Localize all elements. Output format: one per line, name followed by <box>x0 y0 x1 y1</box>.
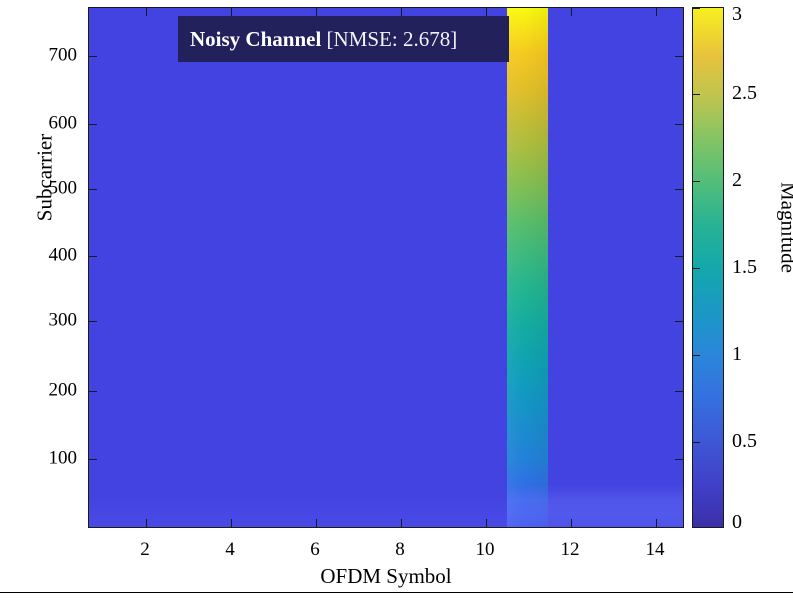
ytick-left-400 <box>89 256 97 257</box>
heatmap-image <box>89 8 683 527</box>
colorbar-label-1p5: 1.5 <box>732 257 757 277</box>
ytick-left-200 <box>89 391 97 392</box>
colorbar-tick-0 <box>693 527 700 528</box>
xtick-label-4: 4 <box>225 540 235 559</box>
ytick-right-300 <box>675 321 683 322</box>
xtick-bottom-2 <box>146 519 147 527</box>
xtick-bottom-14 <box>656 519 657 527</box>
xtick-top-8 <box>401 8 402 16</box>
xtick-top-12 <box>571 8 572 16</box>
xtick-bottom-4 <box>231 519 232 527</box>
colorbar-tick-2 <box>693 181 700 182</box>
ytick-right-700 <box>675 56 683 57</box>
ytick-label-300: 300 <box>25 311 77 330</box>
xtick-label-10: 10 <box>476 540 495 559</box>
ytick-label-700: 700 <box>25 46 77 65</box>
colorbar-label-0p5: 0.5 <box>732 431 757 451</box>
heatmap-bright-column <box>507 8 549 527</box>
xtick-label-2: 2 <box>140 540 150 559</box>
x-axis-label: OFDM Symbol <box>88 564 684 589</box>
xtick-bottom-12 <box>571 519 572 527</box>
plot-title-bold: Noisy Channel <box>190 27 321 51</box>
plot-title-metric: [NMSE: 2.678] <box>321 27 457 51</box>
xtick-label-8: 8 <box>395 540 405 559</box>
xtick-top-10 <box>486 8 487 16</box>
xtick-top-14 <box>656 8 657 16</box>
heatmap-background-field <box>89 8 683 527</box>
ytick-left-100 <box>89 459 97 460</box>
ytick-label-200: 200 <box>25 381 77 400</box>
heatmap-axes[interactable]: Noisy Channel [NMSE: 2.678] <box>88 7 684 528</box>
colorbar-label-3: 3 <box>732 4 742 24</box>
ytick-label-100: 100 <box>25 449 77 468</box>
ytick-right-500 <box>675 189 683 190</box>
xtick-top-2 <box>146 8 147 16</box>
colorbar-title: Magnitude <box>776 128 793 328</box>
xtick-top-6 <box>316 8 317 16</box>
xtick-bottom-10 <box>486 519 487 527</box>
colorbar-tick-3 <box>693 8 700 9</box>
ytick-left-500 <box>89 189 97 190</box>
colorbar-tick-1 <box>693 355 700 356</box>
colorbar-tick-2p5 <box>693 94 700 95</box>
colorbar-label-0: 0 <box>732 512 742 532</box>
xtick-label-6: 6 <box>310 540 320 559</box>
ytick-left-600 <box>89 124 97 125</box>
colorbar-label-2p5: 2.5 <box>732 83 757 103</box>
colorbar-label-1: 1 <box>732 344 742 364</box>
heatmap-column-shading <box>507 8 549 527</box>
ytick-right-200 <box>675 391 683 392</box>
xtick-label-14: 14 <box>646 540 665 559</box>
xtick-bottom-6 <box>316 519 317 527</box>
colorbar[interactable] <box>692 7 724 528</box>
colorbar-tick-1p5 <box>693 268 700 269</box>
xtick-bottom-8 <box>401 519 402 527</box>
figure-bottom-rule <box>0 592 793 593</box>
ytick-right-100 <box>675 459 683 460</box>
figure-canvas: Noisy Channel [NMSE: 2.678] 2 4 6 8 10 1… <box>0 0 793 600</box>
xtick-label-12: 12 <box>561 540 580 559</box>
ytick-right-400 <box>675 256 683 257</box>
xtick-top-4 <box>231 8 232 16</box>
colorbar-tick-0p5 <box>693 442 700 443</box>
ytick-left-700 <box>89 56 97 57</box>
colorbar-label-2: 2 <box>732 170 742 190</box>
ytick-left-300 <box>89 321 97 322</box>
y-axis-label: Subcarrier <box>33 78 58 278</box>
plot-title-text: Noisy Channel [NMSE: 2.678] <box>190 27 457 52</box>
ytick-right-600 <box>675 124 683 125</box>
plot-title-box: Noisy Channel [NMSE: 2.678] <box>178 16 509 62</box>
